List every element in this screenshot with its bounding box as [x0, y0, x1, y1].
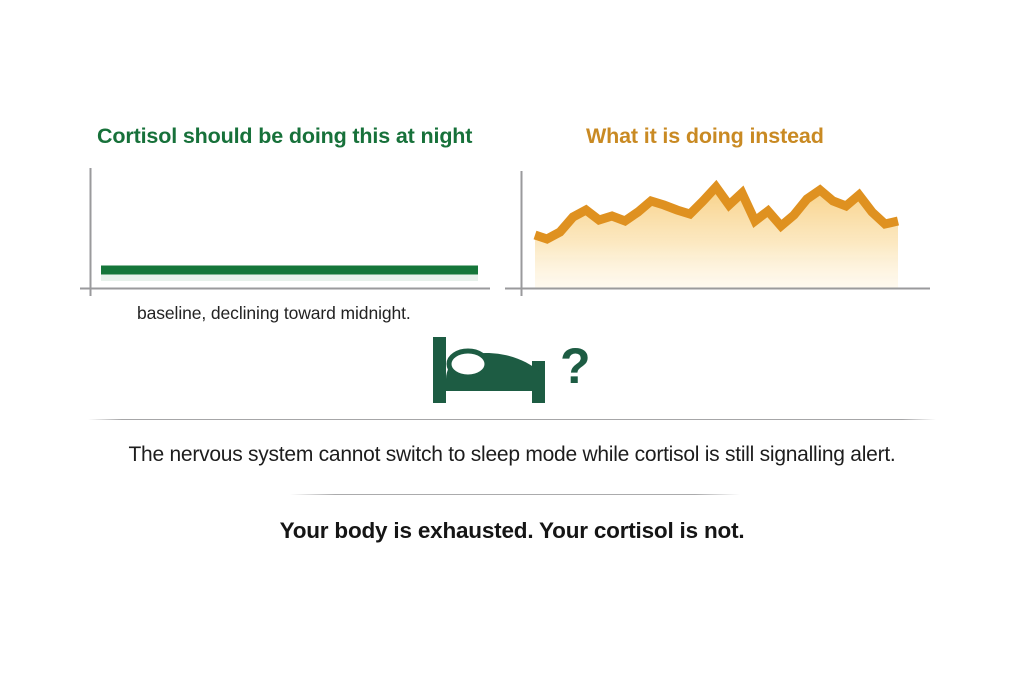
question-mark-icon: ?	[560, 338, 591, 394]
infographic-canvas: Cortisol should be doing this at night W…	[0, 0, 1024, 683]
divider-above-conclusion	[290, 494, 740, 495]
right-panel-title: What it is doing instead	[586, 124, 824, 149]
cortisol-expected-plot	[80, 160, 500, 300]
sleep-status-icon-group: ?	[420, 333, 600, 407]
nervous-system-statement: The nervous system cannot switch to slee…	[0, 443, 1024, 467]
cortisol-actual-chart	[505, 160, 930, 300]
bed-mattress-bar	[433, 379, 545, 391]
bed-icon	[433, 337, 545, 403]
left-panel-caption: baseline, declining toward midnight.	[137, 303, 411, 324]
bed-question-illustration: ?	[420, 333, 600, 407]
bed-leg-right	[532, 389, 545, 403]
bed-leg-left	[433, 389, 446, 403]
cortisol-expected-chart	[80, 160, 500, 300]
sleeping-head	[449, 351, 487, 377]
left-panel-title: Cortisol should be doing this at night	[97, 124, 472, 149]
divider-above-statement	[88, 419, 936, 420]
cortisol-actual-plot	[505, 160, 930, 300]
conclusion-statement: Your body is exhausted. Your cortisol is…	[0, 518, 1024, 544]
